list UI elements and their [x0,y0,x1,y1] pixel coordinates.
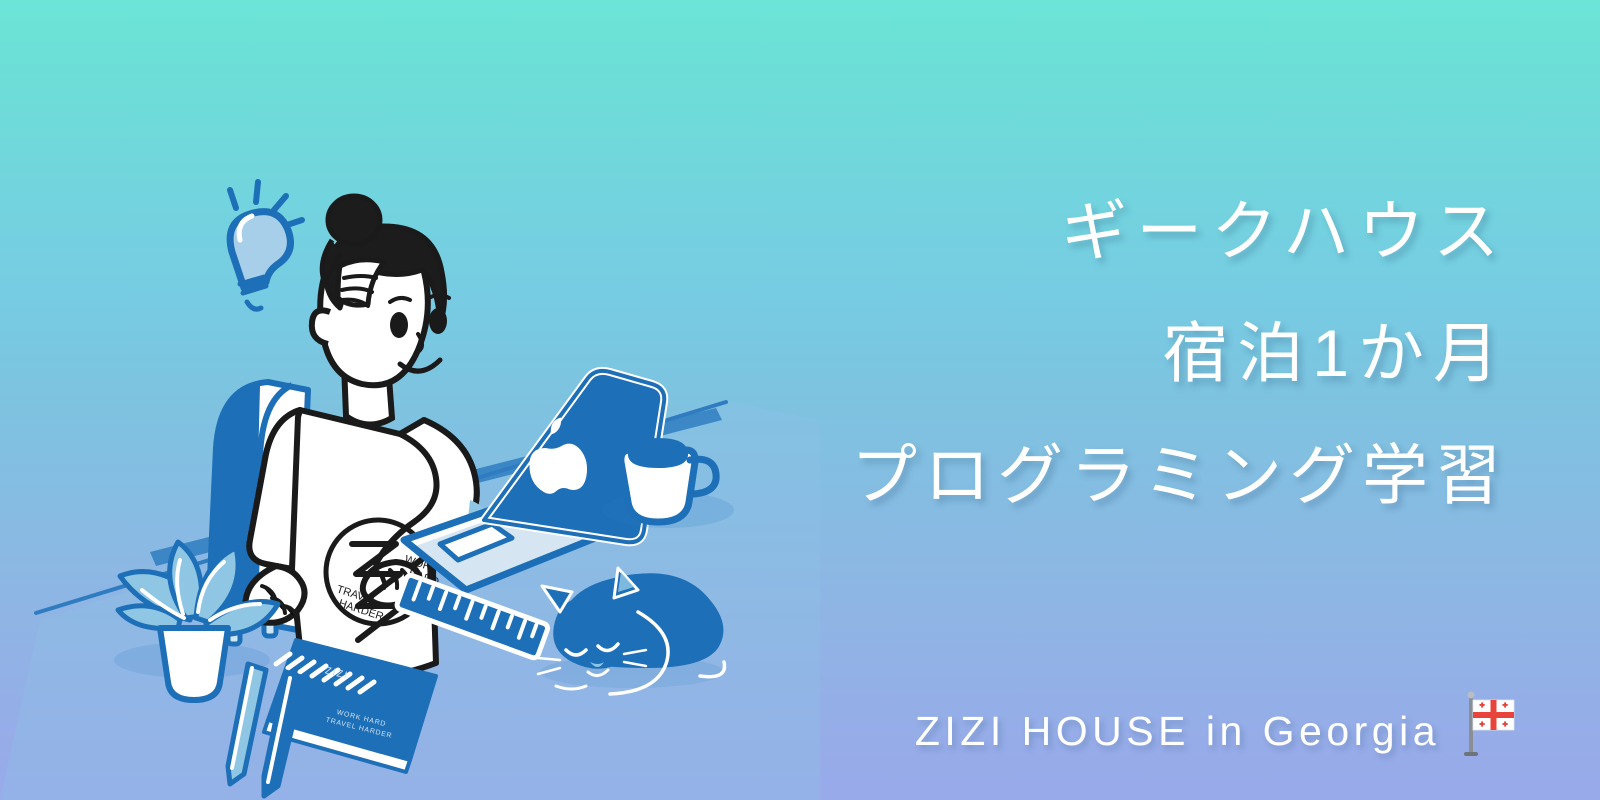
headline-block: ギークハウス 宿泊1か月 プログラミング学習 [728,170,1508,536]
illustration-artwork: WORK HARD TRAVEL HARDER [0,120,820,800]
footer-brand-row: ZIZI HOUSE in Georgia [915,690,1516,752]
headline-line-1: ギークハウス [728,170,1508,292]
light-bulb-idea-icon [230,182,302,309]
promo-banner: WORK HARD TRAVEL HARDER [0,0,1600,800]
georgia-flag-icon [1462,690,1516,756]
headline-line-2: 宿泊1か月 [728,292,1508,414]
brand-name: ZIZI HOUSE in Georgia [915,711,1440,752]
headline-line-3: プログラミング学習 [728,414,1508,536]
